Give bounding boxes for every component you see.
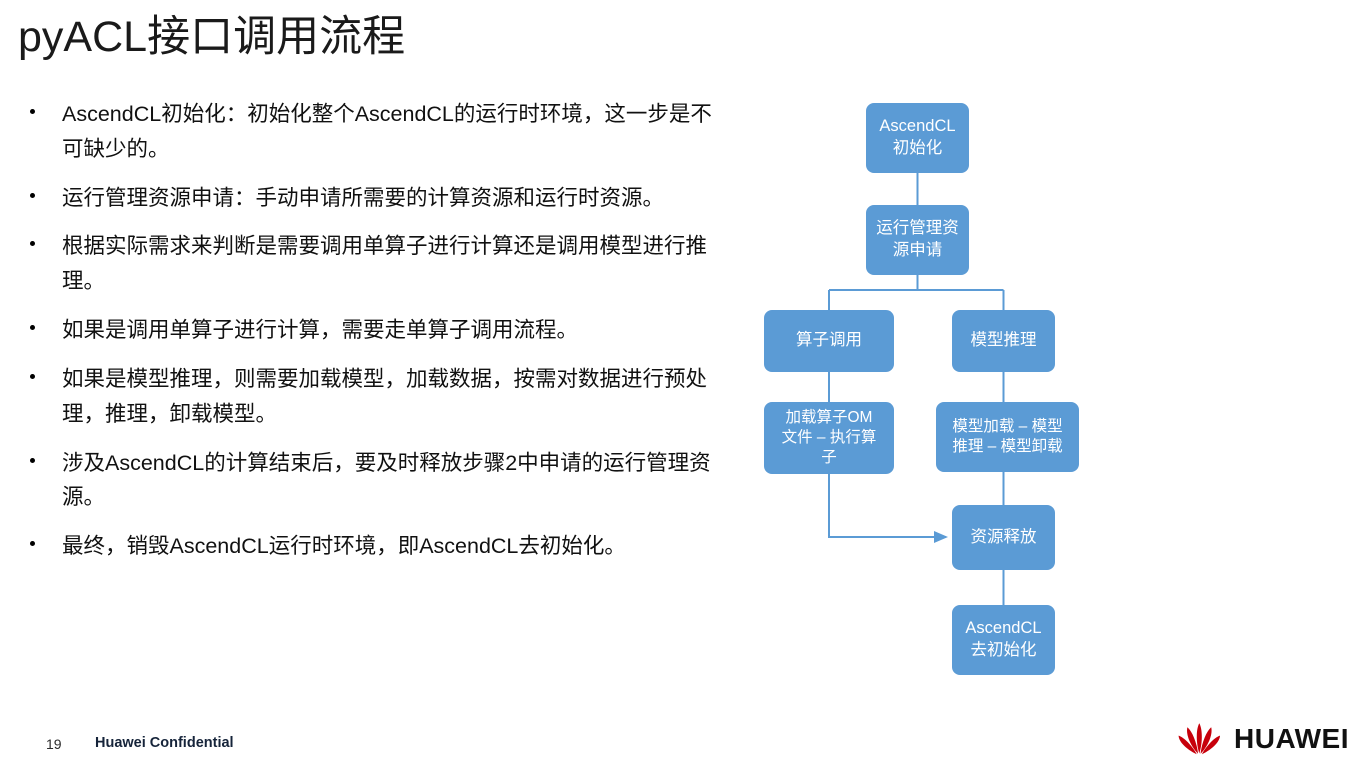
list-item: 最终，销毁AscendCL运行时环境，即AscendCL去初始化。	[20, 529, 720, 564]
bullet-list: AscendCL初始化：初始化整个AscendCL的运行时环境，这一步是不可缺少…	[20, 97, 720, 578]
flow-node-resource-release[interactable]: 资源释放	[952, 505, 1055, 570]
list-item-text: 涉及AscendCL的计算结束后，要及时释放步骤2中申请的运行管理资源。	[62, 451, 711, 510]
flow-node-resource-apply[interactable]: 运行管理资 源申请	[866, 205, 969, 275]
list-item-text: 根据实际需求来判断是需要调用单算子进行计算还是调用模型进行推理。	[62, 234, 707, 293]
flow-node-operator-call[interactable]: 算子调用	[764, 310, 894, 372]
list-item: 涉及AscendCL的计算结束后，要及时释放步骤2中申请的运行管理资源。	[20, 446, 720, 516]
page-number: 19	[46, 736, 62, 752]
list-item: AscendCL初始化：初始化整个AscendCL的运行时环境，这一步是不可缺少…	[20, 97, 720, 167]
flow-node-ascendcl-deinit[interactable]: AscendCL 去初始化	[952, 605, 1055, 675]
huawei-logo: HUAWEI	[1177, 722, 1349, 756]
bullet-dot-icon	[30, 109, 35, 114]
bullet-dot-icon	[30, 374, 35, 379]
page-title: pyACL接口调用流程	[18, 12, 405, 63]
flowchart-connectors	[740, 90, 1120, 690]
list-item: 如果是模型推理，则需要加载模型，加载数据，按需对数据进行预处理，推理，卸载模型。	[20, 362, 720, 432]
list-item: 根据实际需求来判断是需要调用单算子进行计算还是调用模型进行推理。	[20, 229, 720, 299]
flowchart: AscendCL 初始化 运行管理资 源申请 算子调用 模型推理 加载算子OM …	[740, 90, 1120, 690]
bullet-dot-icon	[30, 193, 35, 198]
bullet-dot-icon	[30, 325, 35, 330]
huawei-wordmark: HUAWEI	[1234, 723, 1349, 755]
huawei-flower-icon	[1177, 722, 1223, 756]
flow-node-model-inference[interactable]: 模型推理	[952, 310, 1055, 372]
list-item-text: 如果是模型推理，则需要加载模型，加载数据，按需对数据进行预处理，推理，卸载模型。	[62, 367, 707, 426]
bullet-dot-icon	[30, 241, 35, 246]
bullet-dot-icon	[30, 541, 35, 546]
list-item: 如果是调用单算子进行计算，需要走单算子调用流程。	[20, 313, 720, 348]
bullet-dot-icon	[30, 458, 35, 463]
flow-node-model-detail[interactable]: 模型加载 – 模型 推理 – 模型卸载	[936, 402, 1079, 472]
list-item-text: 运行管理资源申请：手动申请所需要的计算资源和运行时资源。	[62, 186, 664, 210]
confidential-label: Huawei Confidential	[95, 735, 234, 751]
list-item-text: AscendCL初始化：初始化整个AscendCL的运行时环境，这一步是不可缺少…	[62, 102, 712, 161]
flow-node-operator-detail[interactable]: 加载算子OM 文件 – 执行算 子	[764, 402, 894, 474]
list-item-text: 如果是调用单算子进行计算，需要走单算子调用流程。	[62, 318, 578, 342]
list-item: 运行管理资源申请：手动申请所需要的计算资源和运行时资源。	[20, 181, 720, 216]
flow-node-ascendcl-init[interactable]: AscendCL 初始化	[866, 103, 969, 173]
list-item-text: 最终，销毁AscendCL运行时环境，即AscendCL去初始化。	[62, 534, 626, 558]
